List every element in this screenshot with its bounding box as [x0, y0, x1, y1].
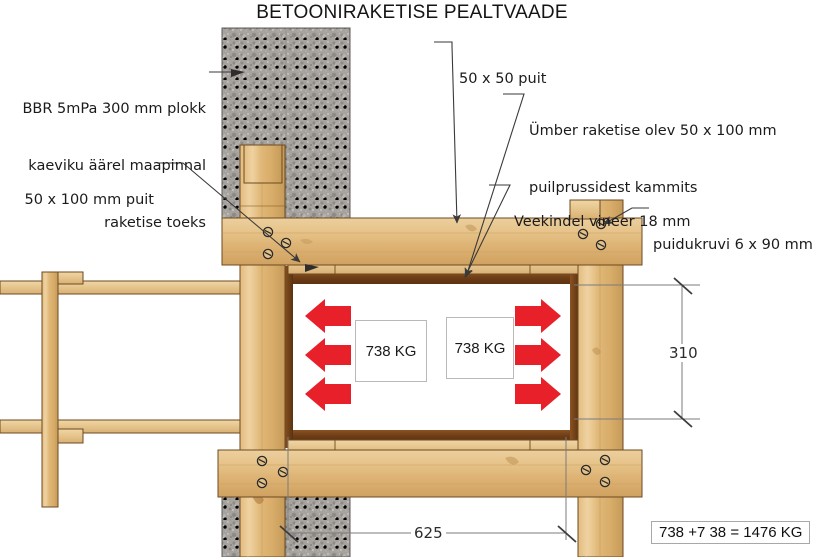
screw-group-bottom-right: [581, 455, 609, 486]
screw-note: puidukruvi 6 x 90 mm: [653, 198, 813, 293]
concrete-block-note-line-1: BBR 5mPa 300 mm plokk: [8, 100, 206, 119]
page-title: BETOONIRAKETISE PEALTVAADE: [0, 2, 824, 24]
inner-edge-bottom: [288, 430, 578, 442]
load-arrows-right: [515, 299, 561, 411]
inner-edge-top: [288, 272, 578, 284]
arrow-right-1: [515, 299, 561, 333]
screw-group-bottom-left: [257, 456, 287, 487]
drawing-canvas: BETOONIRAKETISE PEALTVAADE BBR 5mPa 300 …: [0, 0, 824, 557]
plywood-panel: [292, 283, 574, 431]
post-left: [240, 145, 285, 557]
concrete-block-top: [222, 28, 350, 225]
inner-edge-left: [284, 266, 293, 448]
clamp-note-line-1: Ümber raketise olev 50 x 100 mm: [529, 122, 777, 141]
load-box-left-label: 738 KG: [366, 343, 417, 360]
load-box-right-label: 738 KG: [455, 340, 506, 357]
clamp-beam-bottom: [218, 450, 642, 497]
arrow-left-3: [305, 377, 351, 411]
dimension-horizontal-label: 625: [411, 524, 446, 542]
post-left-head: [244, 145, 282, 183]
screw-note-line-1: puidukruvi 6 x 90 mm: [653, 236, 813, 255]
inner-edge-right: [570, 266, 579, 448]
inner-tip-marker: [305, 264, 319, 272]
arrow-right-3: [515, 377, 561, 411]
arrow-right-2: [515, 338, 561, 372]
concrete-tip-marker: [231, 69, 245, 77]
timber-50x100-note: 50 x 100 mm puit: [8, 153, 154, 248]
concrete-block-bottom: [222, 494, 350, 557]
timber-50x100-note-line-1: 50 x 100 mm puit: [8, 191, 154, 210]
leader-50x50: [434, 42, 457, 223]
total-load-box: 738 +7 38 = 1476 KG: [651, 521, 810, 544]
arrow-left-1: [305, 299, 351, 333]
strip-50x50-bottom: [288, 440, 578, 456]
load-box-right: 738 KG: [446, 317, 514, 379]
leader-plywood: [465, 185, 510, 277]
load-box-left: 738 KG: [355, 320, 427, 382]
screw-group-top-left: [263, 227, 290, 258]
load-arrows-left: [305, 299, 351, 411]
dimension-vertical-label: 310: [666, 344, 701, 362]
arrow-left-2: [305, 338, 351, 372]
left-extension-assembly: [0, 272, 240, 507]
